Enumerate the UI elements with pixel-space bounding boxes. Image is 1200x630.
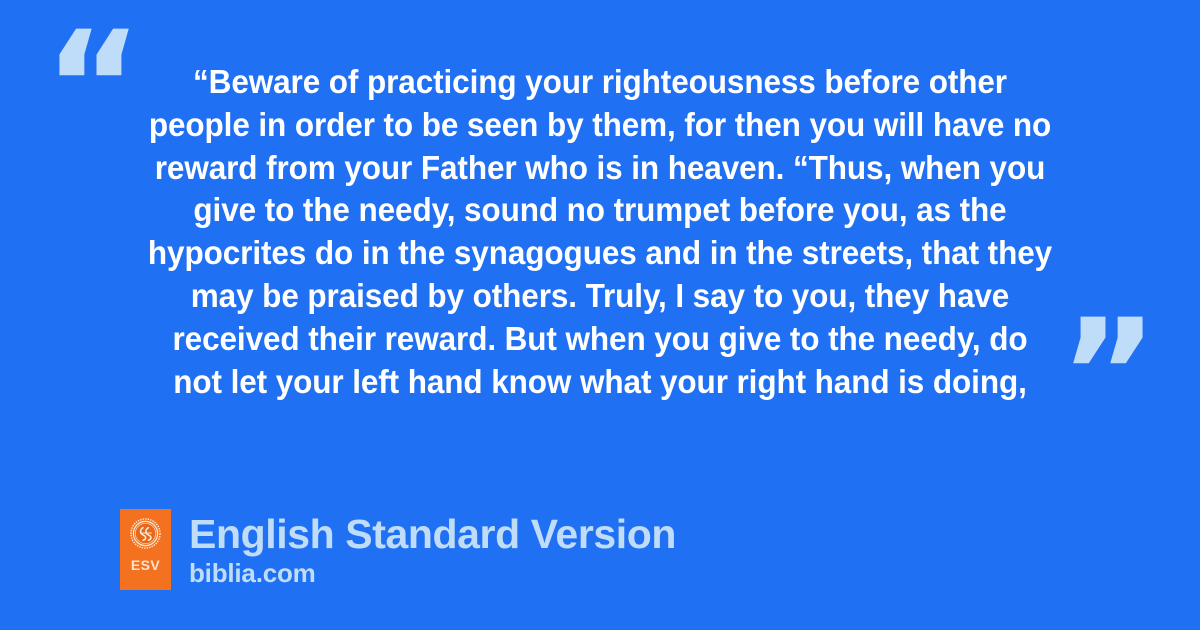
quote-block: “Beware of practicing your righteousness… <box>100 62 1100 404</box>
verse-text: “Beware of practicing your righteousness… <box>130 62 1070 404</box>
site-url-label[interactable]: biblia.com <box>189 559 676 587</box>
esv-logo-badge[interactable]: ESV <box>120 509 171 590</box>
footer-text-group: English Standard Version biblia.com <box>189 512 676 587</box>
esv-abbreviation-label: ESV <box>131 558 160 572</box>
attribution-footer: ESV English Standard Version biblia.com <box>120 509 676 590</box>
bible-verse-card: “ ” “Beware of practicing your righteous… <box>0 0 1200 630</box>
esv-seal-icon <box>130 518 161 549</box>
bible-version-label: English Standard Version <box>189 512 676 557</box>
